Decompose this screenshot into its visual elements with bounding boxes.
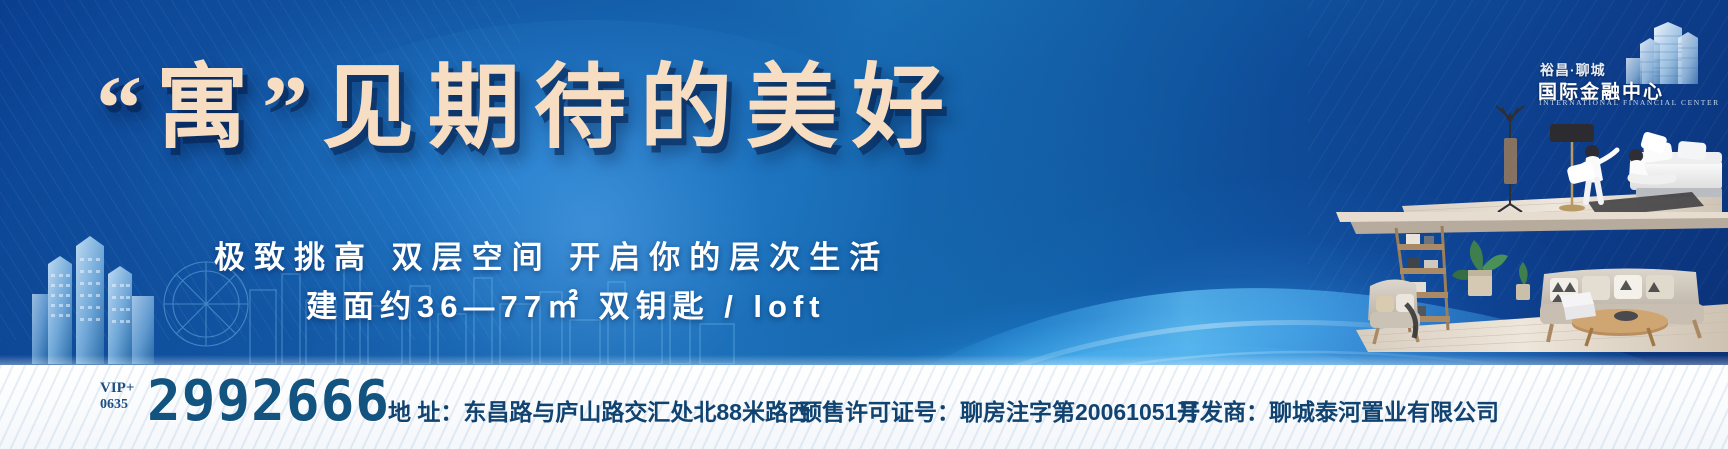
phone-number[interactable]: 2992666 [147,371,390,433]
sofa [1540,268,1704,342]
area-code-label: 0635 [100,397,140,413]
subtitle-line-1: 极致挑高 双层空间 开启你的层次生活 [214,232,889,277]
headline-text: “寓”见期待的美好 [96,62,1216,154]
logo-english-text: INTERNATIONAL FINANCIAL CENTER [1539,98,1720,107]
coffee-table [1572,309,1668,346]
project-logo: 裕昌·聊城 国际金融中心 INTERNATIONAL FINANCIAL CEN… [1532,22,1708,108]
advertisement-banner: “寓”见期待的美好 极致挑高 双层空间 开启你的层次生活 建面约36—77㎡ 双… [0,0,1728,449]
vip-label-group: VIP+ 0635 [100,381,140,413]
bar-fade [0,355,1728,365]
tower-building-icon [20,224,170,364]
license-text: 预售许可证号：聊房注字第20061051号 [799,393,1200,427]
address-text: 地 址：东昌路与庐山路交汇处北88米路西 [388,393,811,427]
living-room-scene [1228,212,1728,352]
developer-text: 开发商：聊城泰河置业有限公司 [1177,393,1499,427]
subtitle-2-unit: ㎡ [547,289,584,324]
subtitle-2-pre: 建面约36—77 [306,289,547,324]
vip-label: VIP+ [100,381,140,397]
logo-building-icon [1616,22,1702,84]
person-right [1629,131,1672,181]
armchair [1368,279,1420,344]
person-left [1566,145,1617,202]
subtitle-line-2: 建面约36—77㎡ 双钥匙 / loft [306,281,826,326]
subtitle-2-post: 双钥匙 / loft [584,289,826,324]
footer-info-bar: VIP+ 0635 2992666 地 址：东昌路与庐山路交汇处北88米路西 预… [0,365,1728,449]
